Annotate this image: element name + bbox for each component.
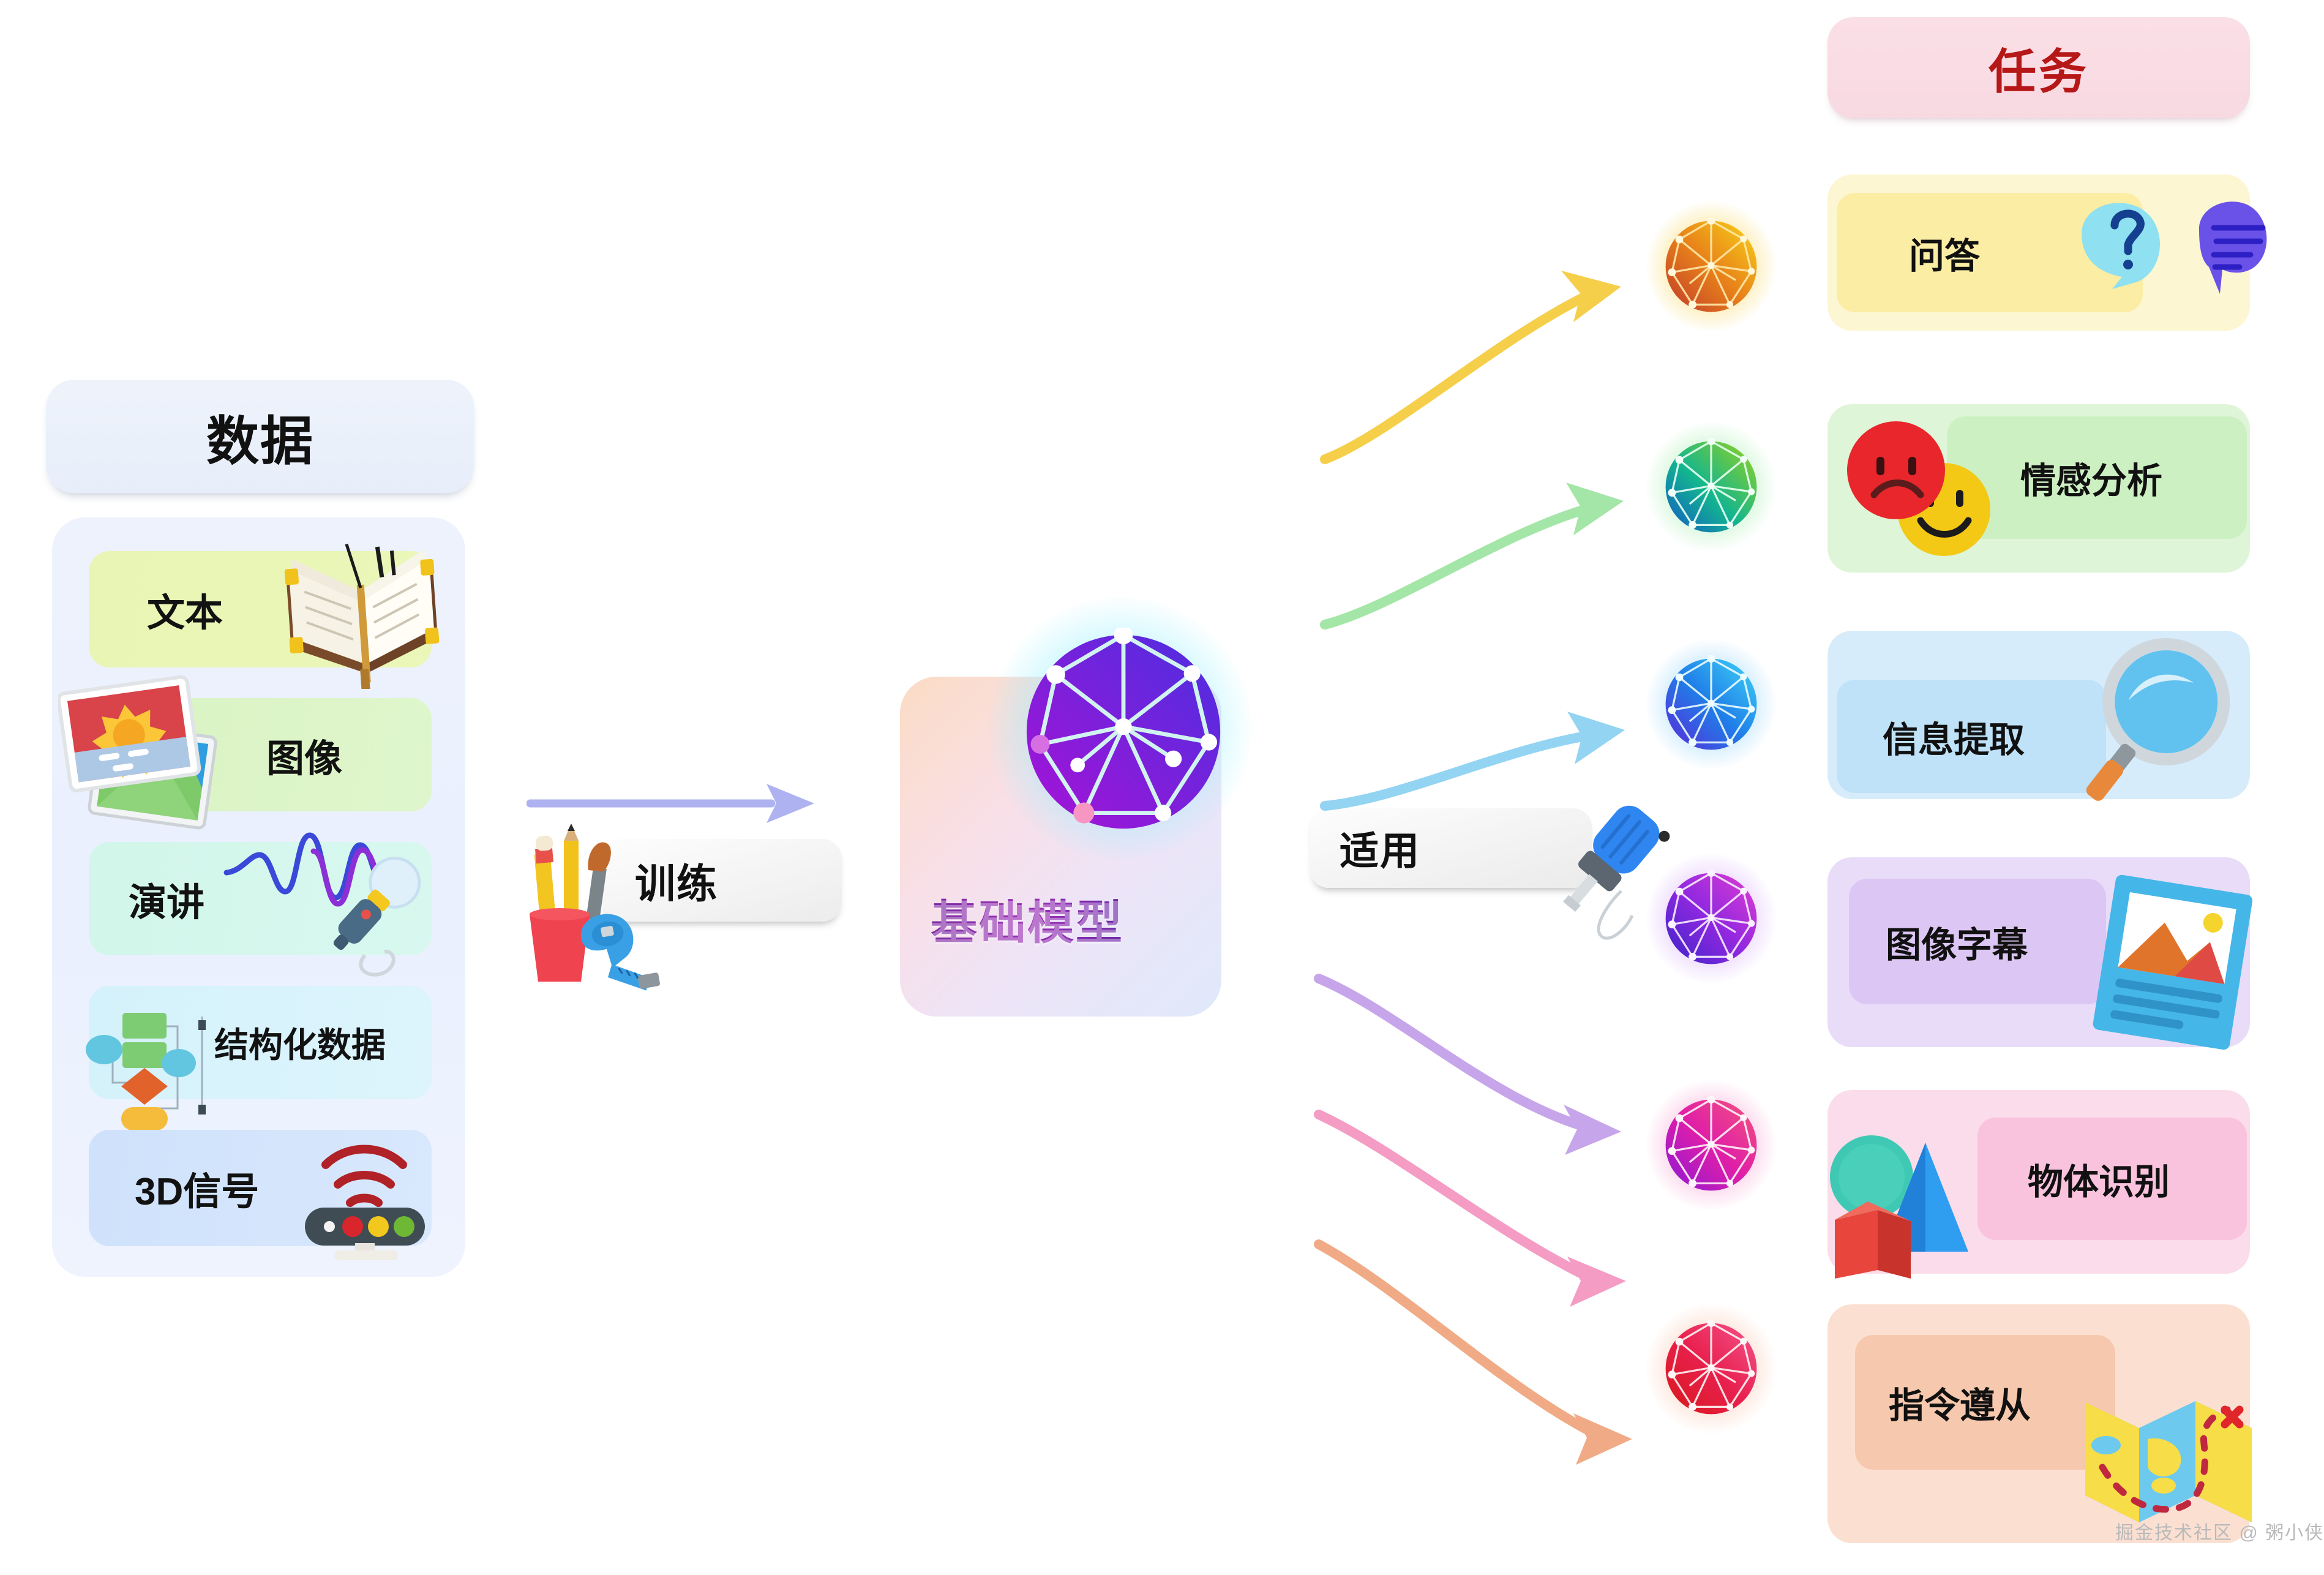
sphere-captioning <box>1662 870 1760 968</box>
data-item-speech-label: 演讲 <box>129 871 204 927</box>
open-book-icon <box>269 505 453 689</box>
sphere-sentiment <box>1662 438 1760 536</box>
data-item-text-label: 文本 <box>147 582 223 637</box>
task-label-instruction: 指令遵从 <box>1889 1377 2031 1428</box>
task-label-detection: 物体识别 <box>2028 1153 2170 1205</box>
emoji-faces-icon <box>1834 412 1999 565</box>
microphone-icon <box>220 814 429 980</box>
task-card-extraction[interactable]: 信息提取 <box>1837 680 2106 793</box>
foundation-model-label: 基础模型 <box>931 885 1124 952</box>
task-card-captioning[interactable]: 图像字幕 <box>1849 879 2106 1004</box>
arrow-to-sentiment <box>1316 423 1671 643</box>
sphere-qa <box>1662 217 1760 315</box>
3d-sensor-icon <box>282 1121 447 1261</box>
pencil-cup-icon <box>517 818 719 1001</box>
sphere-extraction <box>1662 655 1760 753</box>
sphere-detection <box>1662 1096 1760 1194</box>
network-sphere-icon <box>1019 628 1228 836</box>
3d-shapes-icon <box>1821 1121 2005 1286</box>
tasks-header-label: 任务 <box>1989 34 2089 102</box>
data-header-box: 数据 <box>46 380 474 493</box>
speech-bubbles-icon <box>2069 196 2277 343</box>
data-item-image-label: 图像 <box>266 727 342 783</box>
data-item-structured-label: 结构化数据 <box>214 1018 386 1067</box>
diagram-canvas: 数据 文本 <box>0 0 2324 1575</box>
task-label-captioning: 图像字幕 <box>1886 916 2028 968</box>
data-item-3d-signal-label: 3D信号 <box>135 1160 259 1216</box>
watermark-text: 掘金技术社区 @ 粥小侠AI <box>2115 1517 2324 1544</box>
picture-card-icon <box>2075 870 2265 1059</box>
flowchart-icon <box>86 1004 233 1136</box>
photos-icon <box>58 671 236 830</box>
sphere-instruction <box>1662 1320 1760 1418</box>
task-card-detection[interactable]: 物体识别 <box>1977 1118 2247 1240</box>
task-label-qa: 问答 <box>1909 227 1980 279</box>
task-label-extraction: 信息提取 <box>1883 711 2025 762</box>
data-header-label: 数据 <box>206 398 314 475</box>
task-label-sentiment: 情感分析 <box>2020 452 2162 503</box>
tasks-header-box: 任务 <box>1827 17 2250 118</box>
magnifier-icon <box>2082 637 2265 814</box>
arrow-to-extraction <box>1316 649 1671 845</box>
arrow-to-instruction <box>1310 1231 1690 1506</box>
